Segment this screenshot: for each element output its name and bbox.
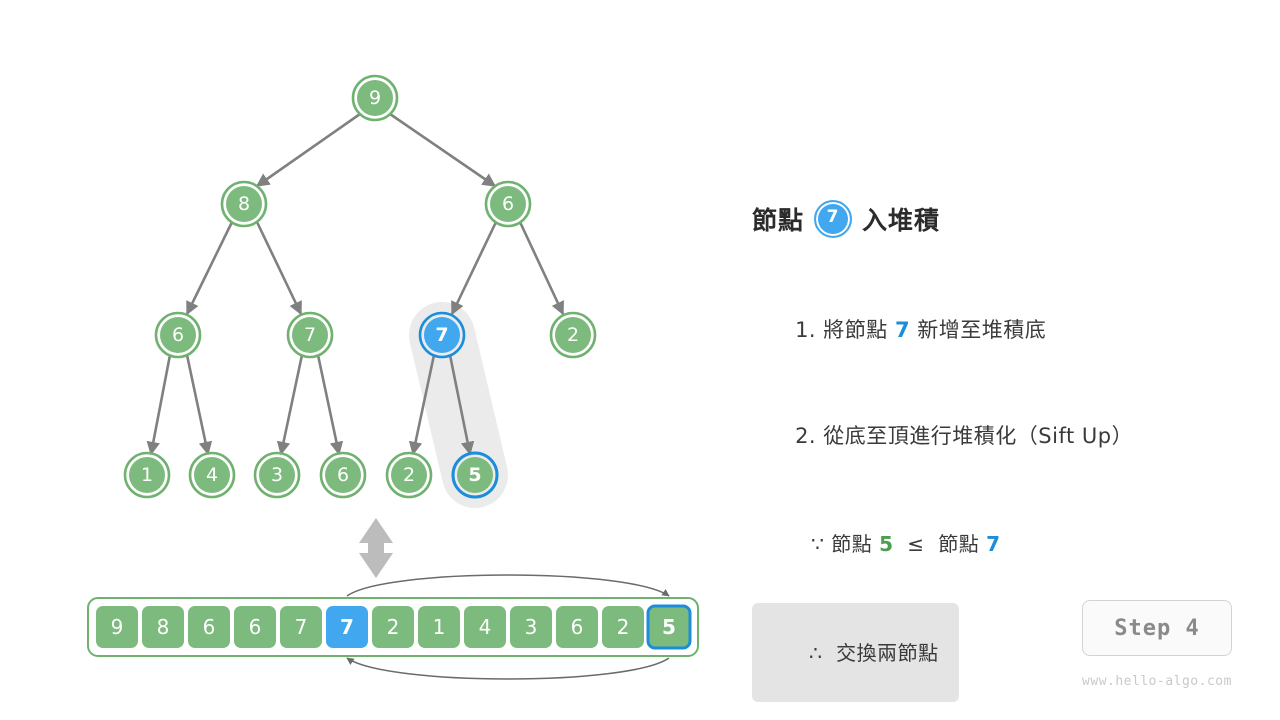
array-cell-label: 5 bbox=[662, 615, 676, 639]
tree-node-label: 8 bbox=[238, 193, 250, 215]
array-cell[interactable]: 6 bbox=[234, 606, 276, 648]
tree-edges bbox=[151, 114, 563, 454]
array-cell[interactable]: 4 bbox=[464, 606, 506, 648]
tree-node-label: 3 bbox=[271, 464, 283, 486]
panel-title-node-badge: 7 bbox=[814, 200, 852, 238]
because-symbol: ∵ bbox=[811, 532, 824, 556]
reason-line: ∵ 節點 5 ≤ 節點 7 bbox=[770, 504, 1252, 581]
tree-edge bbox=[187, 355, 208, 454]
panel-title-prefix: 節點 bbox=[752, 201, 804, 237]
array-cell-label: 6 bbox=[571, 615, 584, 639]
step-2-pre: 從底至頂進行堆積化（Sift Up） bbox=[816, 424, 1133, 448]
tree-node-label: 7 bbox=[435, 324, 448, 346]
step-line-1: 1. 將節點 7 新增至堆積底 bbox=[752, 290, 1252, 368]
tree-edge bbox=[281, 355, 302, 454]
tree-node-label: 2 bbox=[567, 324, 579, 346]
tree-node[interactable]: 2 bbox=[551, 313, 595, 357]
tree-node-label: 4 bbox=[206, 464, 218, 486]
panel-title-suffix: 入堆積 bbox=[862, 201, 940, 237]
diagram-canvas: 9866772143625 9866772143625 節點 7 入堆積 1. … bbox=[0, 0, 1280, 720]
tree-node[interactable]: 2 bbox=[387, 453, 431, 497]
tree-node[interactable]: 9 bbox=[353, 76, 397, 120]
array-cell-label: 7 bbox=[340, 615, 354, 639]
array-cell-label: 6 bbox=[203, 615, 216, 639]
panel-title: 節點 7 入堆積 bbox=[752, 196, 1252, 242]
array-cell[interactable]: 7 bbox=[326, 606, 368, 648]
array-cell[interactable]: 2 bbox=[372, 606, 414, 648]
step-line-2: 2. 從底至頂進行堆積化（Sift Up） bbox=[752, 396, 1252, 474]
tree-edge bbox=[390, 114, 495, 186]
tree-node[interactable]: 8 bbox=[222, 182, 266, 226]
heap-tree-diagram: 9866772143625 9866772143625 bbox=[0, 0, 760, 700]
tree-edge bbox=[151, 355, 170, 454]
array-cell-label: 7 bbox=[295, 615, 308, 639]
array-cell[interactable]: 6 bbox=[188, 606, 230, 648]
array-cell[interactable]: 9 bbox=[96, 606, 138, 648]
step-1-pre: 將節點 bbox=[816, 318, 895, 342]
tree-node-label: 6 bbox=[337, 464, 349, 486]
array-cell[interactable]: 7 bbox=[280, 606, 322, 648]
reason-left-value: 5 bbox=[879, 532, 893, 556]
tree-node[interactable]: 7 bbox=[420, 313, 464, 357]
tree-edge bbox=[187, 222, 232, 314]
step-2-index: 2. bbox=[795, 424, 816, 448]
watermark: www.hello-algo.com bbox=[1070, 674, 1244, 689]
reason-left-label: 節點 bbox=[831, 532, 872, 556]
tree-node-label: 2 bbox=[403, 464, 415, 486]
tree-edge bbox=[318, 355, 339, 454]
tree-edge bbox=[257, 222, 301, 314]
array-cell-label: 8 bbox=[157, 615, 170, 639]
array-cell[interactable]: 2 bbox=[602, 606, 644, 648]
reason-operator: ≤ bbox=[907, 532, 924, 556]
tree-node[interactable]: 7 bbox=[288, 313, 332, 357]
tree-node-label: 7 bbox=[304, 324, 316, 346]
array-cell-label: 6 bbox=[249, 615, 262, 639]
conclusion-text: 交換兩節點 bbox=[836, 641, 939, 665]
tree-node[interactable]: 3 bbox=[255, 453, 299, 497]
array-cell[interactable]: 8 bbox=[142, 606, 184, 648]
step-1-post: 新增至堆積底 bbox=[910, 318, 1046, 342]
reason-right-label: 節點 bbox=[938, 532, 979, 556]
tree-node-label: 5 bbox=[468, 464, 481, 486]
tree-node[interactable]: 6 bbox=[321, 453, 365, 497]
tree-array-link-icon bbox=[359, 518, 393, 578]
step-1-value: 7 bbox=[895, 318, 910, 342]
array-cell-label: 2 bbox=[617, 615, 630, 639]
tree-nodes: 9866772143625 bbox=[125, 76, 595, 497]
tree-edge bbox=[257, 114, 360, 186]
therefore-symbol: ∴ bbox=[809, 641, 822, 665]
tree-edge bbox=[452, 222, 496, 314]
step-1-index: 1. bbox=[795, 318, 816, 342]
array-cell-label: 2 bbox=[387, 615, 400, 639]
reason-right-value: 7 bbox=[986, 532, 1000, 556]
tree-node-label: 1 bbox=[141, 464, 153, 486]
array-cell-label: 9 bbox=[111, 615, 124, 639]
tree-node[interactable]: 6 bbox=[486, 182, 530, 226]
tree-node[interactable]: 1 bbox=[125, 453, 169, 497]
array-cell-label: 4 bbox=[479, 615, 492, 639]
step-badge: Step 4 bbox=[1082, 600, 1232, 656]
heap-array: 9866772143625 bbox=[88, 598, 698, 656]
array-cell[interactable]: 1 bbox=[418, 606, 460, 648]
tree-node[interactable]: 4 bbox=[190, 453, 234, 497]
array-cell-label: 1 bbox=[433, 615, 446, 639]
array-cell[interactable]: 6 bbox=[556, 606, 598, 648]
tree-node-label: 6 bbox=[502, 193, 514, 215]
tree-node[interactable]: 5 bbox=[453, 453, 497, 497]
conclusion-box: ∴ 交換兩節點 bbox=[752, 603, 959, 702]
array-cell[interactable]: 3 bbox=[510, 606, 552, 648]
array-cell[interactable]: 5 bbox=[648, 606, 690, 648]
tree-edge bbox=[520, 222, 563, 314]
array-cell-label: 3 bbox=[525, 615, 538, 639]
tree-node-label: 9 bbox=[369, 87, 381, 109]
tree-node-label: 6 bbox=[172, 324, 184, 346]
tree-node[interactable]: 6 bbox=[156, 313, 200, 357]
